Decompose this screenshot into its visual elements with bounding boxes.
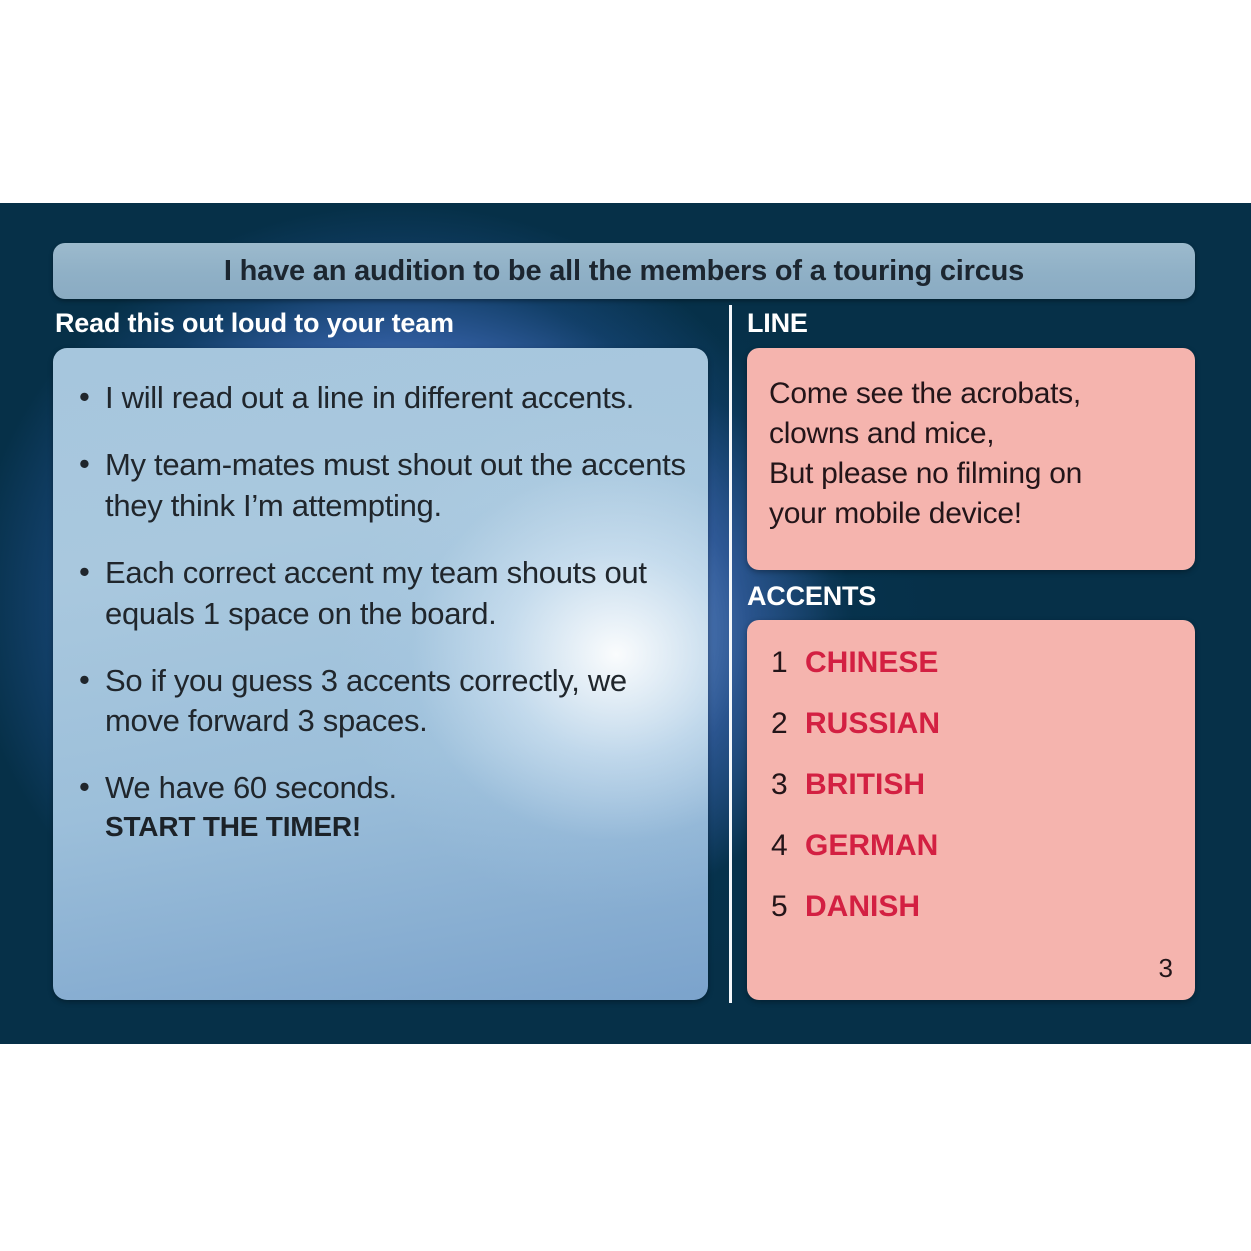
bullet-text: My team-mates must shout out the accents… (105, 447, 686, 523)
accent-number: 2 (771, 707, 805, 741)
line-text-block: Come see the acrobats, clowns and mice, … (769, 374, 1173, 534)
accent-name: GERMAN (805, 829, 938, 863)
accent-number: 1 (771, 646, 805, 680)
column-divider (729, 305, 732, 1003)
bullet-text: So if you guess 3 accents correctly, we … (105, 663, 627, 739)
accents-section-heading: ACCENTS (747, 581, 876, 612)
list-item: 2 RUSSIAN (771, 707, 1173, 741)
line-panel: Come see the acrobats, clowns and mice, … (747, 348, 1195, 570)
list-item: 5 DANISH (771, 890, 1173, 924)
line-text-row: But please no filming on (769, 454, 1173, 494)
accent-number: 5 (771, 890, 805, 924)
line-text-row: your mobile device! (769, 494, 1173, 534)
accent-name: CHINESE (805, 646, 938, 680)
list-item: Each correct accent my team shouts out e… (75, 553, 686, 635)
accent-name: RUSSIAN (805, 707, 940, 741)
bullet-text: Each correct accent my team shouts out e… (105, 555, 647, 631)
list-item: 1 CHINESE (771, 646, 1173, 680)
page-number: 3 (1159, 953, 1173, 984)
bullet-text: I will read out a line in different acce… (105, 380, 634, 415)
page-title: I have an audition to be all the members… (224, 255, 1024, 288)
list-item: I will read out a line in different acce… (75, 378, 686, 419)
accent-number: 4 (771, 829, 805, 863)
instructions-bullet-list: I will read out a line in different acce… (75, 378, 686, 846)
list-item: We have 60 seconds. START THE TIMER! (75, 768, 686, 846)
list-item: So if you guess 3 accents correctly, we … (75, 661, 686, 743)
list-item: My team-mates must shout out the accents… (75, 445, 686, 527)
left-column-heading: Read this out loud to your team (55, 308, 454, 339)
bullet-text: We have 60 seconds. (105, 770, 397, 805)
instructions-panel: I will read out a line in different acce… (53, 348, 708, 1000)
list-item: 4 GERMAN (771, 829, 1173, 863)
accent-number: 3 (771, 768, 805, 802)
list-item: 3 BRITISH (771, 768, 1173, 802)
slide-title-banner: I have an audition to be all the members… (53, 243, 1195, 299)
accent-name: DANISH (805, 890, 920, 924)
accent-name: BRITISH (805, 768, 925, 802)
line-text-row: Come see the acrobats, (769, 374, 1173, 414)
accents-panel: 1 CHINESE 2 RUSSIAN 3 BRITISH 4 GERMAN 5… (747, 620, 1195, 1000)
line-section-heading: LINE (747, 308, 808, 339)
line-text-row: clowns and mice, (769, 414, 1173, 454)
start-timer-callout: START THE TIMER! (105, 809, 686, 846)
